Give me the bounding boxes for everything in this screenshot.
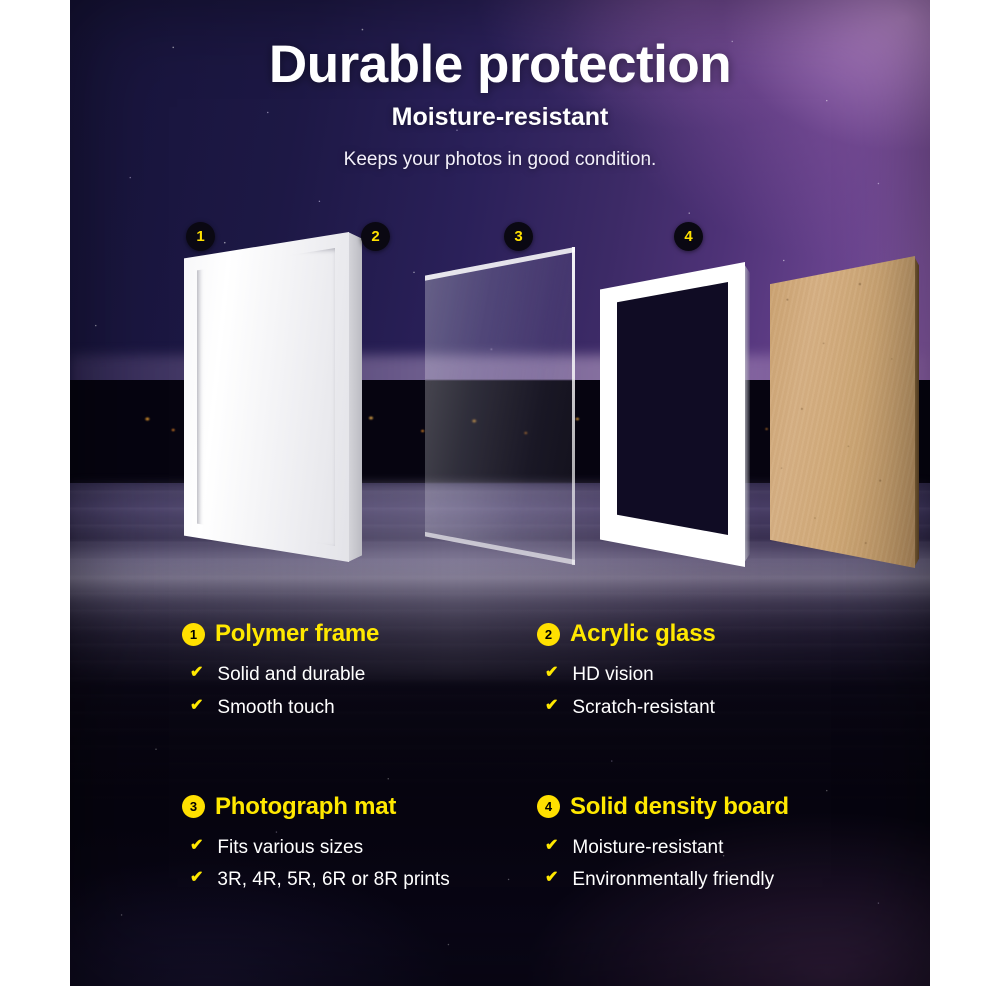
feature-heading: 4 Solid density board: [537, 793, 892, 821]
page-subtitle: Moisture-resistant: [70, 103, 930, 132]
check-icon: ✔: [537, 696, 558, 716]
feature-badge-2: 2: [537, 623, 560, 646]
check-icon: ✔: [537, 663, 558, 683]
product-infographic: Durable protection Moisture-resistant Ke…: [0, 0, 1000, 1000]
feature-title-4: Solid density board: [570, 793, 789, 821]
feature-item-text: Scratch-resistant: [572, 696, 715, 720]
feature-item-text: Environmentally friendly: [572, 868, 774, 892]
list-item: ✔ Moisture-resistant: [537, 836, 892, 860]
check-icon: ✔: [182, 868, 203, 888]
feature-list-4: ✔ Moisture-resistant ✔ Environmentally f…: [537, 836, 892, 893]
night-lake-background: Durable protection Moisture-resistant Ke…: [70, 0, 930, 986]
photograph-mat-illustration: [600, 262, 745, 567]
feature-photograph-mat: 3 Photograph mat ✔ Fits various sizes ✔ …: [182, 793, 537, 902]
frame-inner-bevel: [197, 248, 335, 546]
feature-heading: 1 Polymer frame: [182, 620, 537, 648]
page-description: Keeps your photos in good condition.: [70, 149, 930, 171]
diagram-badge-2: 2: [361, 222, 390, 251]
feature-title-3: Photograph mat: [215, 793, 396, 821]
mat-window-opening: [617, 282, 728, 535]
feature-grid: 1 Polymer frame ✔ Solid and durable ✔ Sm…: [70, 620, 930, 901]
density-board-illustration: [770, 256, 915, 568]
list-item: ✔ Solid and durable: [182, 663, 537, 687]
feature-badge-1: 1: [182, 623, 205, 646]
feature-title-1: Polymer frame: [215, 620, 379, 648]
list-item: ✔ Smooth touch: [182, 696, 537, 720]
list-item: ✔ Fits various sizes: [182, 836, 537, 860]
feature-acrylic-glass: 2 Acrylic glass ✔ HD vision ✔ Scratch-re…: [537, 620, 892, 729]
acrylic-glass-illustration: [425, 247, 575, 565]
check-icon: ✔: [537, 836, 558, 856]
diagram-badge-4: 4: [674, 222, 703, 251]
feature-item-text: Moisture-resistant: [572, 836, 723, 860]
feature-list-2: ✔ HD vision ✔ Scratch-resistant: [537, 663, 892, 720]
acrylic-face: [425, 247, 575, 565]
feature-item-text: HD vision: [572, 663, 653, 687]
feature-list-1: ✔ Solid and durable ✔ Smooth touch: [182, 663, 537, 720]
list-item: ✔ Scratch-resistant: [537, 696, 892, 720]
feature-polymer-frame: 1 Polymer frame ✔ Solid and durable ✔ Sm…: [182, 620, 537, 729]
feature-item-text: 3R, 4R, 5R, 6R or 8R prints: [217, 868, 449, 892]
feature-title-2: Acrylic glass: [570, 620, 716, 648]
diagram-badge-3: 3: [504, 222, 533, 251]
diagram-badge-1: 1: [186, 222, 215, 251]
board-grain-texture: [770, 256, 915, 568]
frame-side-edge: [348, 232, 362, 562]
feature-list-3: ✔ Fits various sizes ✔ 3R, 4R, 5R, 6R or…: [182, 836, 537, 893]
feature-heading: 3 Photograph mat: [182, 793, 537, 821]
feature-badge-3: 3: [182, 795, 205, 818]
feature-item-text: Smooth touch: [217, 696, 334, 720]
feature-item-text: Fits various sizes: [217, 836, 363, 860]
check-icon: ✔: [182, 663, 203, 683]
feature-badge-4: 4: [537, 795, 560, 818]
check-icon: ✔: [182, 836, 203, 856]
polymer-frame-illustration: [184, 232, 349, 562]
page-title: Durable protection: [70, 38, 930, 92]
check-icon: ✔: [537, 868, 558, 888]
feature-solid-density-board: 4 Solid density board ✔ Moisture-resista…: [537, 793, 892, 902]
list-item: ✔ 3R, 4R, 5R, 6R or 8R prints: [182, 868, 537, 892]
feature-heading: 2 Acrylic glass: [537, 620, 892, 648]
check-icon: ✔: [182, 696, 203, 716]
header-block: Durable protection Moisture-resistant Ke…: [70, 0, 930, 171]
feature-item-text: Solid and durable: [217, 663, 365, 687]
list-item: ✔ Environmentally friendly: [537, 868, 892, 892]
acrylic-right-edge: [572, 247, 575, 565]
list-item: ✔ HD vision: [537, 663, 892, 687]
